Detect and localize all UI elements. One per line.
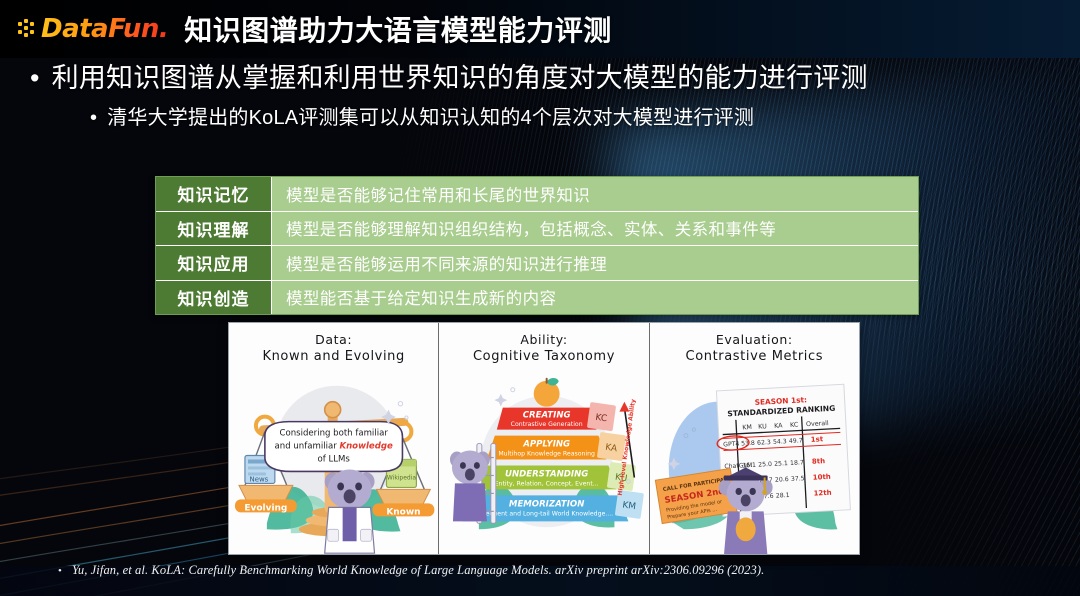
svg-text:37.5: 37.5: [790, 475, 804, 483]
pyramid-level-understanding: UNDERSTANDING Entity, Relation, Concept,…: [477, 465, 617, 489]
panel-ability-heading-line2: Cognitive Taxonomy: [439, 349, 648, 365]
table-row: 知识理解 模型是否能够理解知识组织结构，包括概念、实体、关系和事件等: [156, 212, 918, 247]
table-row-value: 模型是否能够理解知识组织结构，包括概念、实体、关系和事件等: [271, 212, 918, 246]
svg-text:12th: 12th: [813, 489, 831, 498]
svg-text:UNDERSTANDING: UNDERSTANDING: [505, 469, 588, 479]
svg-text:10th: 10th: [812, 473, 830, 482]
svg-text:KA: KA: [774, 421, 783, 429]
svg-text:CREATING: CREATING: [523, 411, 571, 421]
svg-text:Entity, Relation, Concept, Eve: Entity, Relation, Concept, Event...: [495, 480, 599, 487]
svg-text:GPT4: GPT4: [723, 441, 740, 449]
table-row: 知识创造 模型能否基于给定知识生成新的内容: [156, 281, 918, 315]
svg-text:KM: KM: [622, 500, 637, 512]
table-row-key: 知识记忆: [156, 177, 271, 211]
svg-text:APPLYING: APPLYING: [523, 440, 571, 450]
svg-text:8th: 8th: [811, 457, 825, 466]
svg-text:and unfamiliar Knowledge: and unfamiliar Knowledge: [275, 442, 393, 452]
svg-text:28.1: 28.1: [775, 492, 789, 500]
svg-text:Overall: Overall: [805, 419, 828, 428]
svg-text:Contrastive Generation: Contrastive Generation: [511, 421, 583, 428]
logo-wordmark: DataFun.: [41, 16, 168, 42]
bullet-marker: •: [30, 62, 40, 96]
panel-evaluation-heading: Evaluation: Contrastive Metrics: [650, 323, 859, 365]
svg-text:20.6: 20.6: [774, 476, 788, 484]
svg-text:18.7: 18.7: [790, 459, 804, 467]
svg-text:KM: KM: [742, 423, 752, 431]
table-row-key: 知识应用: [156, 246, 271, 280]
page-title: 知识图谱助力大语言模型能力评测: [184, 9, 612, 49]
bullet-level2-text: 清华大学提出的KoLA评测集可以从知识认知的4个层次对大模型进行评测: [107, 105, 754, 131]
table-row-key: 知识理解: [156, 212, 271, 246]
panel-data-heading: Data: Known and Evolving: [229, 323, 438, 365]
svg-text:News: News: [249, 475, 268, 483]
datafun-logo: DataFun.: [18, 13, 168, 45]
panel-ability-heading-line1: Ability:: [439, 332, 648, 348]
svg-text:49.7: 49.7: [788, 437, 802, 445]
pyramid-level-creating: CREATING Contrastive Generation: [497, 408, 597, 430]
kola-figure: Data: Known and Evolving: [228, 322, 860, 555]
svg-text:62.3: 62.3: [757, 439, 771, 447]
svg-text:25.1: 25.1: [774, 460, 788, 468]
pyramid-level-applying: APPLYING Multihop Knowledge Reasoning: [487, 436, 607, 460]
svg-text:MEMORIZATION: MEMORIZATION: [509, 499, 584, 509]
dot-matrix-icon: [18, 19, 40, 39]
svg-text:KU: KU: [758, 422, 767, 430]
svg-text:25.0: 25.0: [758, 461, 772, 469]
table-row: 知识应用 模型是否能够运用不同来源的知识进行推理: [156, 246, 918, 281]
pyramid-level-memorization: MEMORIZATION Frequent and Long-tail Worl…: [463, 495, 628, 521]
table-row-value: 模型是否能够记住常用和长尾的世界知识: [271, 177, 918, 211]
svg-text:KC: KC: [595, 413, 608, 425]
svg-text:of LLMs: of LLMs: [317, 455, 350, 465]
panel-evaluation-heading-line1: Evaluation:: [650, 332, 859, 348]
table-row-value: 模型能否基于给定知识生成新的内容: [271, 281, 918, 315]
svg-text:Multihop Knowledge Reasoning: Multihop Knowledge Reasoning: [499, 451, 596, 458]
bullet-level1-text: 利用知识图谱从掌握和利用世界知识的角度对大模型的能力进行评测: [52, 62, 868, 96]
svg-text:KC: KC: [790, 421, 799, 429]
svg-text:Wikipedia: Wikipedia: [387, 474, 416, 481]
panel-data-illustration: News Wikipedia Evolving Known Considerin…: [229, 373, 438, 554]
sub-bullet-marker: •: [90, 105, 97, 131]
table-row: 知识记忆 模型是否能够记住常用和长尾的世界知识: [156, 177, 918, 212]
svg-text:Frequent and Long-tail World K: Frequent and Long-tail World Knowledge..…: [480, 510, 613, 517]
bullet-level1: • 利用知识图谱从掌握和利用世界知识的角度对大模型的能力进行评测: [30, 62, 1080, 96]
svg-text:KA: KA: [605, 443, 619, 455]
figure-panel-evaluation: Evaluation: Contrastive Metrics SEASON 1…: [649, 323, 859, 554]
slide-header: DataFun. 知识图谱助力大语言模型能力评测: [0, 0, 1080, 58]
knowledge-levels-table: 知识记忆 模型是否能够记住常用和长尾的世界知识 知识理解 模型是否能够理解知识组…: [155, 176, 919, 315]
svg-text:Considering both familiar: Considering both familiar: [279, 429, 388, 439]
bullet-level2: • 清华大学提出的KoLA评测集可以从知识认知的4个层次对大模型进行评测: [90, 105, 1080, 131]
figure-panel-data: Data: Known and Evolving: [229, 323, 438, 554]
citation-text: Yu, Jifan, et al. KoLA: Carefully Benchm…: [72, 563, 764, 578]
panel-evaluation-illustration: SEASON 1st: STANDARDIZED RANKING KM KU K…: [650, 373, 859, 554]
pan-left-label: Evolving: [244, 503, 287, 513]
figure-panel-ability: Ability: Cognitive Taxonomy: [438, 323, 648, 554]
panel-data-heading-line2: Known and Evolving: [229, 349, 438, 365]
panel-evaluation-heading-line2: Contrastive Metrics: [650, 349, 859, 365]
panel-ability-heading: Ability: Cognitive Taxonomy: [439, 323, 648, 365]
citation-marker: •: [58, 565, 62, 577]
svg-text:1st: 1st: [810, 435, 823, 444]
pan-right-label: Known: [386, 507, 420, 517]
table-row-value: 模型是否能够运用不同来源的知识进行推理: [271, 246, 918, 280]
panel-ability-illustration: CREATING Contrastive Generation APPLYING…: [439, 373, 648, 554]
slide: DataFun. 知识图谱助力大语言模型能力评测 • 利用知识图谱从掌握和利用世…: [0, 0, 1080, 596]
citation: • Yu, Jifan, et al. KoLA: Carefully Benc…: [58, 563, 764, 578]
panel-data-heading-line1: Data:: [229, 332, 438, 348]
pyramid-tag-kc: KC: [587, 402, 616, 431]
table-row-key: 知识创造: [156, 281, 271, 315]
bullet-list: • 利用知识图谱从掌握和利用世界知识的角度对大模型的能力进行评测 • 清华大学提…: [0, 62, 1080, 131]
svg-text:54.3: 54.3: [772, 438, 786, 446]
